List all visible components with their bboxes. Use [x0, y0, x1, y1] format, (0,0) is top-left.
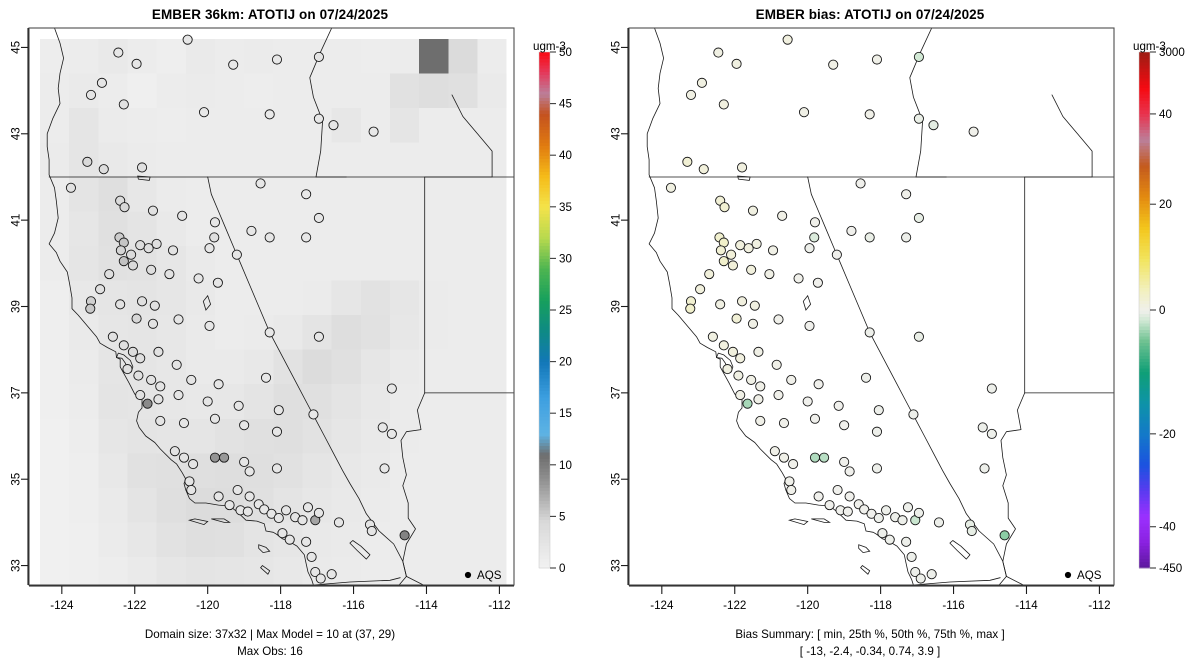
x-tick-label: -116 — [942, 599, 964, 612]
colorbar-tick-label: 35 — [559, 201, 572, 214]
panel-bias-plot[interactable]: AQS33353739414345-124-122-120-118-116-11… — [600, 0, 1200, 672]
station-marker[interactable] — [265, 110, 274, 119]
station-marker[interactable] — [914, 332, 923, 341]
station-marker[interactable] — [86, 90, 95, 99]
panel-bias-caption-line2: [ -13, -2.4, -0.34, 0.74, 3.9 ] — [600, 645, 1140, 658]
station-marker[interactable] — [116, 246, 125, 255]
station-marker[interactable] — [772, 360, 781, 369]
station-marker[interactable] — [303, 503, 312, 512]
station-marker[interactable] — [736, 390, 745, 399]
station-marker[interactable] — [829, 60, 838, 69]
station-marker[interactable] — [367, 526, 376, 535]
station-marker[interactable] — [327, 570, 336, 579]
station-marker[interactable] — [779, 453, 788, 462]
colorbar-tick-label: -20 — [1159, 428, 1176, 441]
station-marker[interactable] — [148, 206, 157, 215]
station-marker[interactable] — [865, 328, 874, 337]
station-marker[interactable] — [256, 179, 265, 188]
station-marker[interactable] — [810, 233, 819, 242]
x-tick-label: -120 — [196, 599, 219, 612]
station-marker[interactable] — [697, 78, 706, 87]
station-marker[interactable] — [83, 157, 92, 166]
station-marker[interactable] — [240, 457, 249, 466]
panel-bias-colorbar-title: ugm-3 — [1133, 40, 1166, 53]
station-marker[interactable] — [97, 78, 106, 87]
figure-root: EMBER 36km: ATOTIJ on 07/24/2025 AQS3335… — [0, 0, 1200, 672]
colorbar-tick-label: 20 — [559, 356, 572, 369]
aqs-legend-dot — [1065, 572, 1071, 578]
station-marker[interactable] — [137, 163, 146, 172]
station-marker[interactable] — [705, 270, 714, 279]
station-marker[interactable] — [861, 373, 870, 382]
x-tick-label: -124 — [650, 599, 674, 612]
station-marker[interactable] — [881, 506, 890, 515]
colorbar: -450-40-20020403000 — [1139, 46, 1185, 575]
station-marker[interactable] — [243, 507, 252, 516]
station-marker[interactable] — [737, 163, 746, 172]
station-marker[interactable] — [794, 274, 803, 283]
station-marker[interactable] — [105, 270, 114, 279]
station-marker[interactable] — [872, 55, 881, 64]
station-marker[interactable] — [699, 165, 708, 174]
station-marker[interactable] — [119, 100, 128, 109]
station-marker[interactable] — [316, 574, 325, 583]
colorbar-tick-label: 15 — [559, 407, 572, 420]
station-marker[interactable] — [154, 395, 163, 404]
station-marker[interactable] — [719, 257, 728, 266]
colorbar-tick-label: 25 — [559, 304, 572, 317]
station-marker[interactable] — [787, 375, 796, 384]
station-marker[interactable] — [728, 347, 737, 356]
station-marker[interactable] — [148, 319, 157, 328]
y-tick-label: 39 — [610, 300, 623, 313]
station-marker[interactable] — [114, 48, 123, 57]
station-marker[interactable] — [696, 285, 705, 294]
station-marker[interactable] — [143, 399, 152, 408]
station-marker[interactable] — [914, 114, 923, 123]
station-marker[interactable] — [281, 506, 290, 515]
station-marker[interactable] — [234, 401, 243, 410]
station-marker[interactable] — [307, 552, 316, 561]
station-marker[interactable] — [902, 537, 911, 546]
station-marker[interactable] — [210, 414, 219, 423]
panel-model-caption-line1: Domain size: 37x32 | Max Model = 10 at (… — [0, 628, 540, 641]
station-marker[interactable] — [737, 297, 746, 306]
aqs-legend: AQS — [1065, 569, 1102, 582]
station-marker[interactable] — [119, 341, 128, 350]
station-marker[interactable] — [732, 314, 741, 323]
station-marker[interactable] — [785, 477, 794, 486]
station-marker[interactable] — [666, 183, 675, 192]
colorbar-tick-label: 20 — [1159, 198, 1172, 211]
station-marker[interactable] — [213, 278, 222, 287]
station-marker[interactable] — [754, 347, 763, 356]
x-tick-label: -112 — [488, 599, 510, 612]
aqs-legend-label: AQS — [477, 569, 502, 582]
station-marker[interactable] — [843, 507, 852, 516]
station-marker[interactable] — [833, 485, 842, 494]
y-tick-label: 37 — [610, 386, 623, 399]
station-marker[interactable] — [803, 397, 812, 406]
station-marker[interactable] — [716, 246, 725, 255]
x-tick-label: -124 — [50, 599, 74, 612]
station-marker[interactable] — [302, 190, 311, 199]
station-marker[interactable] — [132, 314, 141, 323]
station-marker[interactable] — [819, 453, 828, 462]
station-marker[interactable] — [927, 570, 936, 579]
station-marker[interactable] — [813, 278, 822, 287]
station-marker[interactable] — [205, 244, 214, 253]
station-marker[interactable] — [400, 531, 409, 540]
aqs-legend-label: AQS — [1077, 569, 1102, 582]
station-marker[interactable] — [147, 375, 156, 384]
x-tick-label: -114 — [415, 599, 438, 612]
x-tick-label: -112 — [1088, 599, 1110, 612]
station-marker[interactable] — [872, 427, 881, 436]
station-marker[interactable] — [834, 401, 843, 410]
station-marker[interactable] — [119, 257, 128, 266]
station-marker[interactable] — [179, 418, 188, 427]
station-marker[interactable] — [240, 421, 249, 430]
y-tick-label: 35 — [10, 473, 23, 486]
model-grid-raster — [40, 39, 507, 592]
station-marker[interactable] — [779, 418, 788, 427]
station-marker[interactable] — [233, 485, 242, 494]
colorbar: 05101520253035404550 — [539, 46, 572, 575]
station-marker[interactable] — [747, 375, 756, 384]
station-marker[interactable] — [1000, 531, 1009, 540]
station-marker[interactable] — [736, 354, 745, 363]
station-marker[interactable] — [814, 380, 823, 389]
station-marker[interactable] — [245, 492, 254, 501]
station-marker[interactable] — [683, 157, 692, 166]
station-marker[interactable] — [136, 354, 145, 363]
station-marker[interactable] — [99, 165, 108, 174]
station-marker[interactable] — [987, 429, 996, 438]
station-marker[interactable] — [778, 211, 787, 220]
station-marker[interactable] — [136, 241, 145, 250]
station-marker[interactable] — [770, 447, 779, 456]
station-marker[interactable] — [380, 464, 389, 473]
station-marker[interactable] — [856, 179, 865, 188]
panel-model-colorbar-title: ugm-3 — [533, 40, 566, 53]
station-marker[interactable] — [909, 410, 918, 419]
station-marker[interactable] — [369, 127, 378, 136]
station-marker[interactable] — [747, 265, 756, 274]
station-marker[interactable] — [787, 485, 796, 494]
station-marker[interactable] — [768, 246, 777, 255]
station-marker[interactable] — [152, 239, 161, 248]
station-marker[interactable] — [799, 108, 808, 117]
station-marker[interactable] — [137, 297, 146, 306]
station-marker[interactable] — [272, 427, 281, 436]
station-marker[interactable] — [205, 321, 214, 330]
station-marker[interactable] — [120, 203, 129, 212]
station-marker[interactable] — [902, 233, 911, 242]
station-marker[interactable] — [210, 453, 219, 462]
station-marker[interactable] — [210, 218, 219, 227]
station-marker[interactable] — [108, 332, 117, 341]
station-marker[interactable] — [272, 464, 281, 473]
station-marker[interactable] — [302, 233, 311, 242]
colorbar-tick-label: 40 — [1159, 108, 1172, 121]
x-tick-label: -118 — [869, 599, 891, 612]
station-marker[interactable] — [168, 246, 177, 255]
station-marker[interactable] — [832, 250, 841, 259]
station-marker[interactable] — [185, 477, 194, 486]
colorbar-tick-label: 0 — [559, 562, 565, 575]
station-marker[interactable] — [874, 513, 883, 522]
station-marker[interactable] — [214, 492, 223, 501]
station-marker[interactable] — [86, 304, 95, 313]
station-marker[interactable] — [916, 574, 925, 583]
panel-model: EMBER 36km: ATOTIJ on 07/24/2025 AQS3335… — [0, 0, 600, 672]
station-marker[interactable] — [187, 485, 196, 494]
station-marker[interactable] — [719, 341, 728, 350]
station-marker[interactable] — [728, 261, 737, 270]
station-marker[interactable] — [727, 250, 736, 259]
y-tick-label: 39 — [10, 300, 23, 313]
station-marker[interactable] — [229, 60, 238, 69]
station-marker[interactable] — [189, 460, 198, 469]
station-marker[interactable] — [840, 457, 849, 466]
station-marker[interactable] — [967, 526, 976, 535]
station-marker[interactable] — [128, 347, 137, 356]
station-marker[interactable] — [156, 416, 165, 425]
station-marker[interactable] — [754, 395, 763, 404]
station-marker[interactable] — [170, 447, 179, 456]
station-marker[interactable] — [980, 464, 989, 473]
x-tick-label: -122 — [723, 599, 746, 612]
station-marker[interactable] — [174, 315, 183, 324]
colorbar-tick-label: -450 — [1159, 562, 1182, 575]
station-marker[interactable] — [132, 59, 141, 68]
station-marker[interactable] — [783, 35, 792, 44]
station-marker[interactable] — [314, 332, 323, 341]
station-marker[interactable] — [261, 373, 270, 382]
station-marker[interactable] — [914, 508, 923, 517]
station-marker[interactable] — [805, 321, 814, 330]
station-marker[interactable] — [274, 406, 283, 415]
station-marker[interactable] — [872, 464, 881, 473]
station-marker[interactable] — [756, 382, 765, 391]
station-marker[interactable] — [810, 218, 819, 227]
panel-bias-caption-line1: Bias Summary: [ min, 25th %, 50th %, 75t… — [600, 628, 1140, 641]
station-marker[interactable] — [128, 261, 137, 270]
colorbar-tick-label: 10 — [559, 459, 572, 472]
station-marker[interactable] — [902, 190, 911, 199]
colorbar-tick-label: 0 — [1159, 304, 1165, 317]
station-marker[interactable] — [225, 501, 234, 510]
station-marker[interactable] — [116, 300, 125, 309]
y-tick-label: 43 — [10, 127, 23, 140]
station-marker[interactable] — [96, 285, 105, 294]
station-marker[interactable] — [756, 416, 765, 425]
station-marker[interactable] — [810, 414, 819, 423]
station-marker[interactable] — [840, 421, 849, 430]
station-marker[interactable] — [210, 233, 219, 242]
station-marker[interactable] — [865, 110, 874, 119]
y-tick-label: 45 — [610, 41, 623, 54]
station-marker[interactable] — [750, 301, 759, 310]
x-tick-label: -122 — [123, 599, 146, 612]
colorbar-tick-label: -40 — [1159, 521, 1176, 534]
y-tick-label: 41 — [10, 214, 23, 227]
y-tick-label: 35 — [610, 473, 623, 486]
station-marker[interactable] — [302, 537, 311, 546]
station-marker[interactable] — [136, 390, 145, 399]
station-marker[interactable] — [203, 397, 212, 406]
panel-model-plot[interactable]: AQS33353739414345-124-122-120-118-116-11… — [0, 0, 600, 672]
station-marker[interactable] — [387, 384, 396, 393]
station-marker[interactable] — [272, 55, 281, 64]
station-marker[interactable] — [178, 211, 187, 220]
station-marker[interactable] — [187, 375, 196, 384]
station-marker[interactable] — [219, 453, 228, 462]
station-marker[interactable] — [907, 552, 916, 561]
station-marker[interactable] — [732, 59, 741, 68]
axes: 33353739414345-124-122-120-118-116-114-1… — [610, 28, 1115, 612]
station-marker[interactable] — [150, 301, 159, 310]
colorbar-tick-label: 5 — [559, 510, 565, 523]
station-marker[interactable] — [716, 300, 725, 309]
station-marker[interactable] — [314, 52, 323, 61]
station-marker[interactable] — [686, 304, 695, 313]
station-marker[interactable] — [285, 535, 294, 544]
y-tick-label: 33 — [610, 559, 623, 572]
station-marker[interactable] — [810, 453, 819, 462]
station-marker[interactable] — [278, 529, 287, 538]
station-marker[interactable] — [874, 406, 883, 415]
station-marker[interactable] — [309, 410, 318, 419]
station-marker[interactable] — [265, 233, 274, 242]
station-marker[interactable] — [903, 503, 912, 512]
station-marker[interactable] — [156, 382, 165, 391]
colorbar-tick-label: 45 — [559, 98, 572, 111]
y-tick-label: 33 — [10, 559, 23, 572]
station-marker[interactable] — [825, 501, 834, 510]
station-marker[interactable] — [969, 127, 978, 136]
station-marker[interactable] — [978, 423, 987, 432]
station-marker[interactable] — [134, 371, 143, 380]
station-marker[interactable] — [987, 384, 996, 393]
y-tick-label: 43 — [610, 127, 623, 140]
station-marker[interactable] — [686, 90, 695, 99]
station-marker[interactable] — [298, 516, 307, 525]
x-tick-label: -114 — [1015, 599, 1038, 612]
station-marker[interactable] — [752, 239, 761, 248]
station-marker[interactable] — [194, 274, 203, 283]
station-marker[interactable] — [736, 241, 745, 250]
station-marker[interactable] — [914, 213, 923, 222]
station-marker[interactable] — [774, 390, 783, 399]
station-marker[interactable] — [814, 492, 823, 501]
station-marker[interactable] — [179, 453, 188, 462]
station-marker[interactable] — [774, 315, 783, 324]
station-marker[interactable] — [789, 460, 798, 469]
station-marker[interactable] — [845, 467, 854, 476]
station-marker[interactable] — [743, 399, 752, 408]
y-tick-label: 37 — [10, 386, 23, 399]
station-marker[interactable] — [274, 513, 283, 522]
station-marker[interactable] — [720, 203, 729, 212]
colorbar-tick-label: 30 — [559, 252, 572, 265]
station-marker[interactable] — [66, 183, 75, 192]
station-marker[interactable] — [265, 328, 274, 337]
station-marker[interactable] — [314, 114, 323, 123]
y-tick-label: 45 — [10, 41, 23, 54]
station-marker[interactable] — [199, 108, 208, 117]
station-marker[interactable] — [127, 250, 136, 259]
station-marker[interactable] — [805, 244, 814, 253]
station-marker[interactable] — [174, 390, 183, 399]
station-marker[interactable] — [154, 347, 163, 356]
station-marker[interactable] — [748, 319, 757, 328]
station-marker[interactable] — [885, 535, 894, 544]
x-tick-label: -116 — [342, 599, 364, 612]
station-marker[interactable] — [845, 492, 854, 501]
y-tick-label: 41 — [610, 214, 623, 227]
station-marker[interactable] — [708, 332, 717, 341]
station-marker[interactable] — [334, 518, 343, 527]
x-tick-label: -118 — [269, 599, 291, 612]
colorbar-tick-label: 40 — [559, 149, 572, 162]
station-marker[interactable] — [734, 371, 743, 380]
panel-model-caption-line2: Max Obs: 16 — [0, 645, 540, 658]
station-marker[interactable] — [172, 360, 181, 369]
station-marker[interactable] — [329, 121, 338, 130]
station-marker[interactable] — [765, 270, 774, 279]
station-marker[interactable] — [123, 365, 132, 374]
station-marker[interactable] — [378, 423, 387, 432]
station-marker[interactable] — [247, 226, 256, 235]
x-tick-label: -120 — [796, 599, 819, 612]
station-marker[interactable] — [719, 100, 728, 109]
panel-bias: EMBER bias: ATOTIJ on 07/24/2025 AQS3335… — [600, 0, 1200, 672]
station-marker[interactable] — [878, 529, 887, 538]
station-marker[interactable] — [387, 429, 396, 438]
station-marker[interactable] — [314, 213, 323, 222]
station-markers[interactable] — [666, 35, 1009, 583]
station-marker[interactable] — [165, 270, 174, 279]
station-marker[interactable] — [723, 365, 732, 374]
station-marker[interactable] — [914, 52, 923, 61]
station-marker[interactable] — [847, 226, 856, 235]
station-marker[interactable] — [232, 250, 241, 259]
station-marker[interactable] — [748, 206, 757, 215]
station-marker[interactable] — [183, 35, 192, 44]
aqs-legend-dot — [465, 572, 471, 578]
station-marker[interactable] — [898, 516, 907, 525]
station-marker[interactable] — [245, 467, 254, 476]
station-marker[interactable] — [147, 265, 156, 274]
station-marker[interactable] — [214, 380, 223, 389]
station-marker[interactable] — [314, 508, 323, 517]
station-marker[interactable] — [934, 518, 943, 527]
station-marker[interactable] — [929, 121, 938, 130]
station-marker[interactable] — [865, 233, 874, 242]
station-marker[interactable] — [714, 48, 723, 57]
